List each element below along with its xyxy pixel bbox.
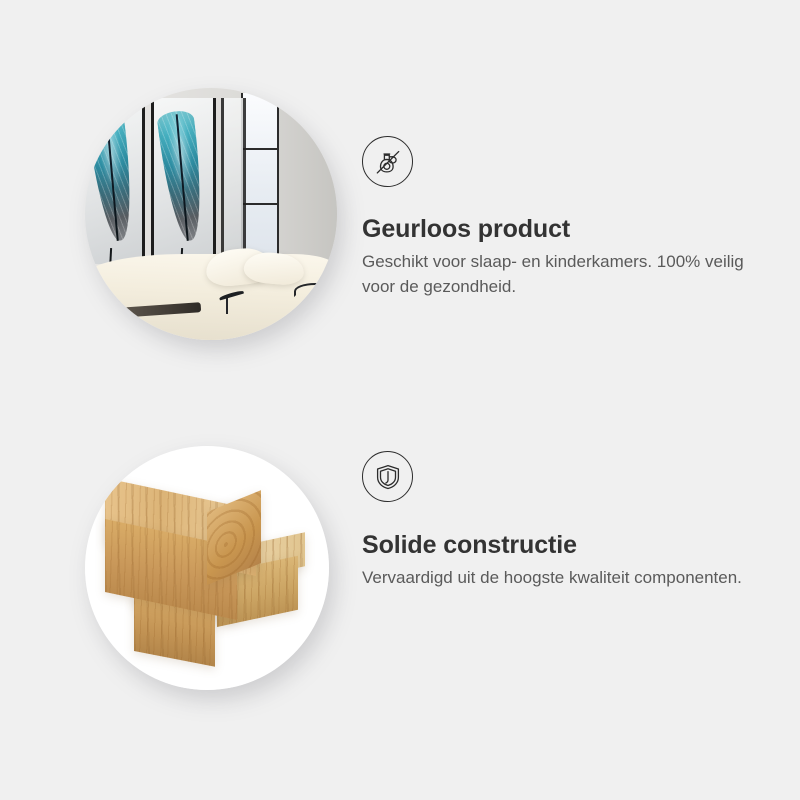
feature-image-wooden-beams-photo	[85, 446, 329, 690]
feature-block-odourless: Geurloos product Geschikt voor slaap- en…	[0, 88, 800, 340]
page-title: Solide constructie	[362, 530, 762, 560]
canvas-panel-1	[85, 98, 145, 264]
feather-art-2	[156, 110, 208, 243]
feature-description: Vervaardigd uit de hoogste kwaliteit com…	[362, 566, 747, 591]
wooden-beams-scene	[85, 446, 329, 690]
feature-description: Geschikt voor slaap- en kinderkamers. 10…	[362, 250, 747, 299]
feature-text-column: Solide constructie Vervaardigd uit de ho…	[362, 446, 762, 591]
bedroom-scene	[85, 88, 337, 340]
feature-image-bedroom-feather-canvas-photo	[85, 88, 337, 340]
canvas-panel-3	[221, 98, 246, 264]
shield-icon	[362, 451, 413, 502]
feature-block-solid-construction: Solide constructie Vervaardigd uit de ho…	[0, 446, 800, 690]
wall-right	[279, 88, 337, 269]
window	[241, 93, 279, 259]
page-title: Geurloos product	[362, 214, 762, 244]
canvas-panel-2	[151, 98, 217, 264]
floor-lamp-head	[218, 290, 243, 301]
bed	[85, 254, 337, 340]
product-feature-page: Geurloos product Geschikt voor slaap- en…	[0, 0, 800, 800]
wall-lamp-arc	[294, 283, 329, 297]
headboard	[90, 302, 201, 320]
feature-text-column: Geurloos product Geschikt voor slaap- en…	[362, 88, 762, 299]
feather-art-1	[86, 110, 138, 243]
no-fragrance-icon	[362, 136, 413, 187]
